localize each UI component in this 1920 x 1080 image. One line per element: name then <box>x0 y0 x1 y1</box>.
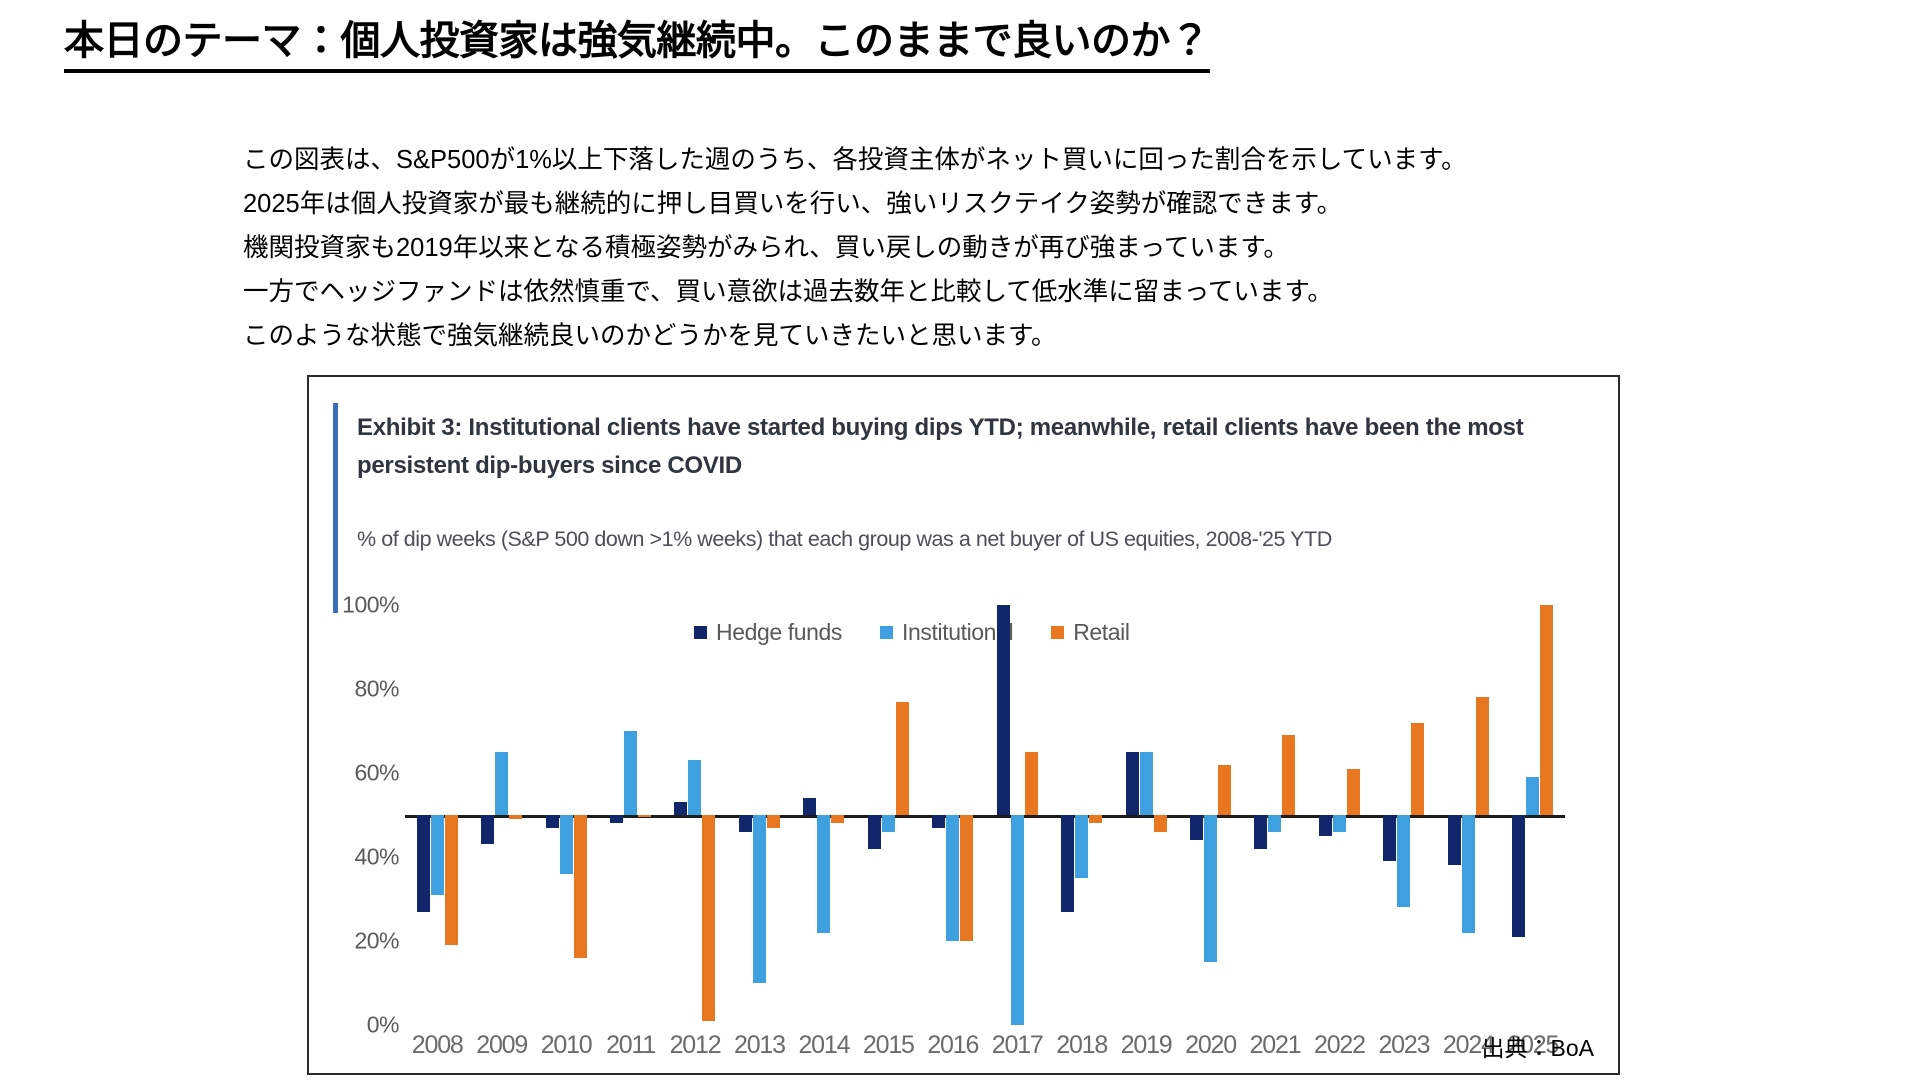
bar <box>932 815 945 828</box>
bar <box>674 802 687 815</box>
x-axis-tick-label: 2008 <box>412 1031 463 1060</box>
bar-group <box>792 605 856 1025</box>
x-axis-tick-label: 2022 <box>1314 1031 1365 1060</box>
plot-area <box>405 605 1565 1025</box>
bar <box>546 815 559 828</box>
bar-group <box>534 605 598 1025</box>
bar <box>896 702 909 815</box>
bar <box>1154 815 1167 832</box>
body-line-5: このような状態で強気継続良いのかどうかを見ていきたいと思います。 <box>243 314 1467 358</box>
exhibit-panel: Exhibit 3: Institutional clients have st… <box>307 375 1620 1075</box>
bar <box>624 731 637 815</box>
x-axis-tick-label: 2011 <box>606 1031 655 1060</box>
bar <box>495 752 508 815</box>
x-axis-tick-label: 2010 <box>541 1031 592 1060</box>
bar <box>431 815 444 895</box>
source-label: 出典：BoA <box>1482 1029 1594 1063</box>
bar <box>1089 815 1102 823</box>
bar <box>509 815 522 819</box>
x-axis-tick-label: 2017 <box>992 1031 1043 1060</box>
bar <box>817 815 830 933</box>
bar <box>1140 752 1153 815</box>
bar-group <box>598 605 662 1025</box>
bar <box>445 815 458 945</box>
bar-group <box>469 605 533 1025</box>
bar <box>688 760 701 815</box>
bar-group <box>921 605 985 1025</box>
bar <box>1075 815 1088 878</box>
exhibit-accent-bar <box>333 403 338 613</box>
bar <box>831 815 844 823</box>
bar <box>1268 815 1281 832</box>
bar-group <box>985 605 1049 1025</box>
bar <box>417 815 430 912</box>
body-line-3: 機関投資家も2019年以来となる積極姿勢がみられ、買い戻しの動きが再び強まってい… <box>243 226 1467 270</box>
bar <box>1204 815 1217 962</box>
y-axis-tick-label: 100% <box>309 592 399 619</box>
bar <box>1397 815 1410 907</box>
bar <box>1347 769 1360 815</box>
bar <box>1254 815 1267 849</box>
bar-group <box>727 605 791 1025</box>
bar <box>1319 815 1332 836</box>
bar <box>560 815 573 874</box>
bar <box>1512 815 1525 937</box>
bar <box>1411 723 1424 815</box>
bar-group <box>1372 605 1436 1025</box>
bar <box>767 815 780 828</box>
bar <box>481 815 494 844</box>
bar <box>803 798 816 815</box>
bar <box>997 605 1010 815</box>
body-line-4: 一方でヘッジファンドは依然慎重で、買い意欲は過去数年と比較して低水準に留まってい… <box>243 270 1467 314</box>
bar <box>1126 752 1139 815</box>
bar-group <box>663 605 727 1025</box>
bar <box>702 815 715 1021</box>
bar <box>638 815 651 817</box>
bar <box>1462 815 1475 933</box>
y-axis: 0%20%40%60%80%100% <box>309 605 399 1025</box>
bar <box>1476 697 1489 815</box>
bar <box>1061 815 1074 912</box>
x-axis-tick-label: 2018 <box>1056 1031 1107 1060</box>
bar <box>739 815 752 832</box>
x-axis-tick-label: 2014 <box>798 1031 849 1060</box>
bar <box>1540 605 1553 815</box>
y-axis-tick-label: 40% <box>309 844 399 871</box>
body-line-1: この図表は、S&P500が1%以上下落した週のうち、各投資主体がネット買いに回っ… <box>243 138 1467 182</box>
x-axis-tick-label: 2013 <box>734 1031 785 1060</box>
exhibit-subtitle: % of dip weeks (S&P 500 down >1% weeks) … <box>357 524 1617 554</box>
exhibit-title: Exhibit 3: Institutional clients have st… <box>357 409 1607 485</box>
bar <box>610 815 623 823</box>
bar-group <box>1178 605 1242 1025</box>
bar-group <box>1049 605 1113 1025</box>
x-axis-tick-label: 2016 <box>927 1031 978 1060</box>
bar <box>1383 815 1396 861</box>
x-axis-tick-label: 2015 <box>863 1031 914 1060</box>
bar <box>574 815 587 958</box>
bar <box>1011 815 1024 1025</box>
y-axis-tick-label: 60% <box>309 760 399 787</box>
bar-group <box>1436 605 1500 1025</box>
bar <box>1282 735 1295 815</box>
bar-group <box>1307 605 1371 1025</box>
y-axis-tick-label: 0% <box>309 1012 399 1039</box>
bar <box>868 815 881 849</box>
bar <box>1448 815 1461 865</box>
bar <box>1025 752 1038 815</box>
bar-group <box>1114 605 1178 1025</box>
bar-group <box>1501 605 1565 1025</box>
bar <box>1190 815 1203 840</box>
x-axis-tick-label: 2021 <box>1250 1031 1301 1060</box>
page-title: 本日のテーマ：個人投資家は強気継続中。このままで良いのか？ <box>64 18 1210 73</box>
bar <box>882 815 895 832</box>
bar <box>946 815 959 941</box>
x-axis: 2008200920102011201220132014201520162017… <box>405 1031 1565 1071</box>
bar-group <box>405 605 469 1025</box>
bar <box>1218 765 1231 815</box>
bar-group <box>856 605 920 1025</box>
slide-body-text: この図表は、S&P500が1%以上下落した週のうち、各投資主体がネット買いに回っ… <box>243 138 1467 358</box>
bar <box>960 815 973 941</box>
bar <box>1526 777 1539 815</box>
bar-group <box>1243 605 1307 1025</box>
y-axis-tick-label: 20% <box>309 928 399 955</box>
bar-chart: Hedge fundsInstitutionalRetail 0%20%40%6… <box>309 605 1620 1075</box>
y-axis-tick-label: 80% <box>309 676 399 703</box>
x-axis-tick-label: 2023 <box>1378 1031 1429 1060</box>
x-axis-tick-label: 2012 <box>670 1031 721 1060</box>
bar <box>753 815 766 983</box>
bar <box>1333 815 1346 832</box>
x-axis-tick-label: 2020 <box>1185 1031 1236 1060</box>
body-line-2: 2025年は個人投資家が最も継続的に押し目買いを行い、強いリスクテイク姿勢が確認… <box>243 182 1467 226</box>
x-axis-tick-label: 2019 <box>1121 1031 1172 1060</box>
x-axis-tick-label: 2009 <box>476 1031 527 1060</box>
